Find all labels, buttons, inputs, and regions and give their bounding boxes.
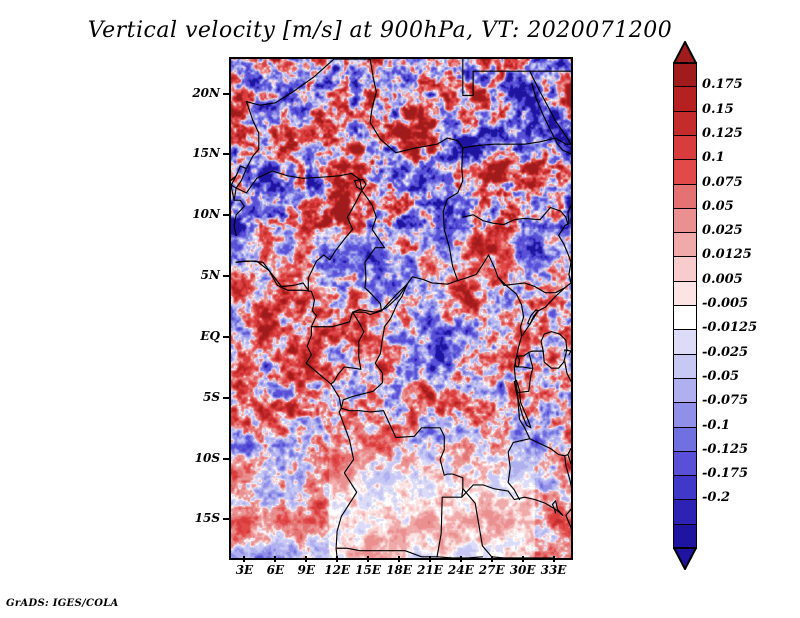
border-path xyxy=(463,489,555,558)
border-path xyxy=(341,284,407,408)
colorbar-tick-label: 0.025 xyxy=(702,223,743,238)
x-axis-tick-mark xyxy=(274,556,276,562)
colorbar-swatch xyxy=(673,451,697,477)
x-axis-tick-mark xyxy=(522,556,524,562)
colorbar-swatch xyxy=(673,281,697,307)
colorbar-tick-label: -0.1 xyxy=(702,418,730,433)
y-axis-tick-mark xyxy=(223,153,229,155)
y-axis-tick-label: EQ xyxy=(180,329,220,343)
colorbar-tick-label: -0.2 xyxy=(702,490,730,505)
colorbar-swatch xyxy=(673,499,697,525)
border-path xyxy=(443,148,463,281)
border-path xyxy=(236,171,360,193)
border-path xyxy=(308,179,362,290)
country-borders-overlay xyxy=(231,59,571,558)
border-path xyxy=(337,408,463,556)
colorbar-tick-label: -0.175 xyxy=(702,466,748,481)
border-path xyxy=(234,200,244,215)
y-axis-tick-label: 5N xyxy=(180,268,220,282)
y-axis-tick-mark xyxy=(223,93,229,95)
border-path xyxy=(234,215,236,236)
border-path xyxy=(568,448,571,454)
x-axis-tick-mark xyxy=(243,556,245,562)
y-axis-tick-mark xyxy=(223,518,229,520)
colorbar-tick-label: -0.075 xyxy=(702,393,748,408)
x-axis-tick-mark xyxy=(429,556,431,562)
x-axis-tick-mark xyxy=(336,556,338,562)
colorbar-arrow-bottom xyxy=(673,547,697,570)
y-axis-tick-label: 10S xyxy=(180,451,220,465)
border-path xyxy=(234,102,259,201)
colorbar-swatch xyxy=(673,159,697,185)
border-path xyxy=(530,71,571,144)
border-path xyxy=(498,277,571,293)
y-axis-tick-label: 10N xyxy=(180,207,220,221)
border-path xyxy=(566,509,571,558)
colorbar-tick-label: 0.05 xyxy=(702,199,734,214)
colorbar-swatch xyxy=(673,354,697,380)
colorbar xyxy=(673,57,697,560)
border-path xyxy=(311,311,381,327)
border-path xyxy=(381,255,497,311)
border-path xyxy=(569,351,571,355)
colorbar-tick-label: 0.005 xyxy=(702,272,743,287)
page-title: Vertical velocity [m/s] at 900hPa, VT: 2… xyxy=(0,18,760,43)
colorbar-arrow-top xyxy=(673,41,697,64)
colorbar-tick-label: 0.175 xyxy=(702,77,743,92)
colorbar-tick-label: -0.005 xyxy=(702,296,748,311)
x-axis-tick-mark xyxy=(367,556,369,562)
border-path xyxy=(231,166,246,200)
colorbar-swatch xyxy=(673,62,697,88)
y-axis-tick-label: 15N xyxy=(180,146,220,160)
colorbar-swatch xyxy=(673,475,697,501)
colorbar-tick-label: 0.1 xyxy=(702,150,725,165)
y-axis-tick-label: 15S xyxy=(180,511,220,525)
y-axis-tick-mark xyxy=(223,397,229,399)
colorbar-swatch xyxy=(673,524,697,550)
colorbar-swatch xyxy=(673,256,697,282)
colorbar-tick-label: -0.025 xyxy=(702,345,748,360)
border-path xyxy=(236,261,357,558)
y-axis-tick-mark xyxy=(223,275,229,277)
border-path xyxy=(565,455,571,507)
colorbar-swatch xyxy=(673,208,697,234)
border-path xyxy=(522,288,565,337)
x-axis-tick-mark xyxy=(398,556,400,562)
colorbar-swatch xyxy=(673,232,697,258)
x-axis-tick-mark xyxy=(305,556,307,562)
y-axis-tick-label: 20N xyxy=(180,86,220,100)
colorbar-tick-label: -0.0125 xyxy=(702,320,757,335)
map-plot-area xyxy=(229,57,573,560)
border-path xyxy=(353,284,408,312)
colorbar-tick-label: -0.05 xyxy=(702,369,739,384)
x-axis-tick-mark xyxy=(553,556,555,562)
border-path xyxy=(498,277,530,500)
border-path xyxy=(362,190,385,310)
border-path xyxy=(463,207,568,224)
colorbar-swatch xyxy=(673,86,697,112)
footer-credit: GrADS: IGES/COLA xyxy=(6,598,119,609)
colorbar-swatch xyxy=(673,427,697,453)
x-axis-tick-mark xyxy=(460,556,462,562)
y-axis-tick-mark xyxy=(223,336,229,338)
colorbar-tick-label: 0.125 xyxy=(702,126,743,141)
border-path xyxy=(463,59,571,96)
colorbar-swatch xyxy=(673,305,697,331)
y-axis-tick-label: 5S xyxy=(180,390,220,404)
colorbar-tick-label: 0.075 xyxy=(702,175,743,190)
colorbar-swatch xyxy=(673,184,697,210)
colorbar-swatch xyxy=(673,135,697,161)
colorbar-tick-label: -0.125 xyxy=(702,442,748,457)
border-path xyxy=(541,332,567,369)
x-axis-tick-label: 33E xyxy=(534,563,574,577)
border-path xyxy=(528,310,538,325)
border-path xyxy=(552,501,562,516)
colorbar-tick-label: 0.0125 xyxy=(702,247,752,262)
colorbar-swatch xyxy=(673,329,697,355)
y-axis-tick-mark xyxy=(223,214,229,216)
colorbar-tick-label: 0.15 xyxy=(702,102,734,117)
colorbar-swatch xyxy=(673,111,697,137)
border-path xyxy=(246,59,334,105)
border-path xyxy=(530,439,565,456)
colorbar-swatch xyxy=(673,402,697,428)
x-axis-tick-mark xyxy=(491,556,493,562)
colorbar-swatch xyxy=(673,378,697,404)
border-path xyxy=(565,362,571,381)
y-axis-tick-mark xyxy=(223,458,229,460)
border-path xyxy=(518,368,532,392)
border-path xyxy=(370,59,463,153)
